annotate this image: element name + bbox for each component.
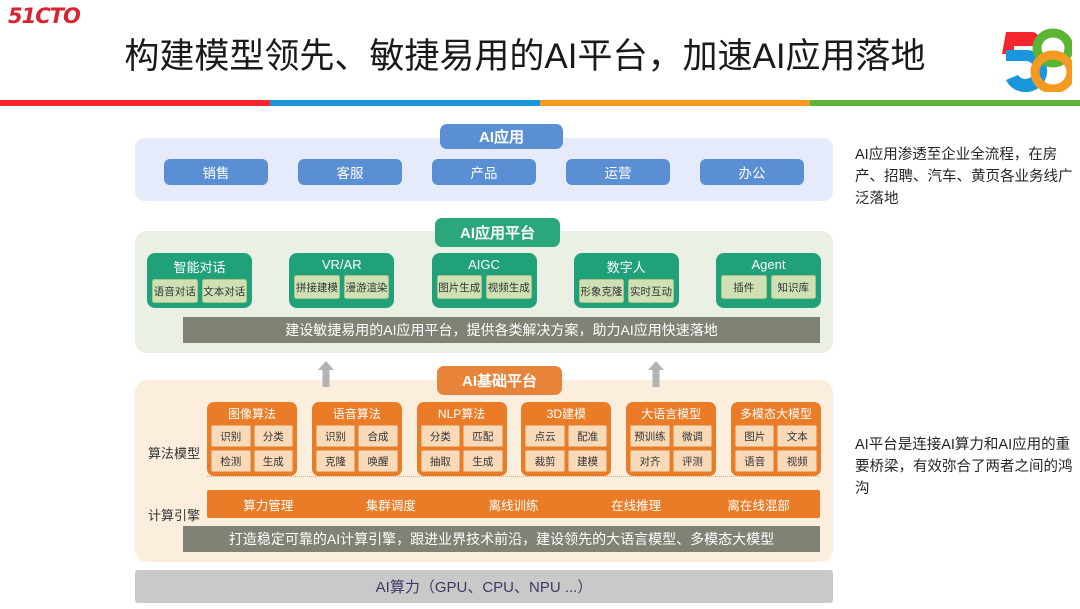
application-chip-list: 销售 客服 产品 运营 办公 [135, 159, 833, 185]
algo-card-title: 3D建模 [525, 404, 607, 425]
divider-segment-green [810, 100, 1080, 106]
algo-subitem[interactable]: 合成 [358, 425, 398, 447]
algo-card-title: 语音算法 [316, 404, 398, 425]
algo-subitem[interactable]: 配准 [568, 425, 608, 447]
platform-card-dialogue[interactable]: 智能对话 语音对话 文本对话 [147, 253, 252, 308]
algo-subitem[interactable]: 预训练 [630, 425, 670, 447]
platform-card-title: 智能对话 [152, 256, 247, 279]
algo-subitem[interactable]: 抽取 [421, 450, 461, 472]
platform-subitem[interactable]: 漫游渲染 [344, 275, 390, 299]
annotation-platform: AI平台是连接AI算力和AI应用的重要桥梁，有效弥合了两者之间的鸿沟 [855, 434, 1075, 500]
algo-subitem[interactable]: 生成 [463, 450, 503, 472]
algo-card-llm[interactable]: 大语言模型 预训练 微调 对齐 评测 [626, 402, 716, 476]
platform-card-title: VR/AR [294, 256, 389, 275]
engine-item-cluster-scheduling[interactable]: 集群调度 [330, 495, 453, 514]
algo-subitem[interactable]: 微调 [673, 425, 713, 447]
algo-subitem[interactable]: 克隆 [316, 450, 356, 472]
engine-item-compute-management[interactable]: 算力管理 [207, 495, 330, 514]
divider-bar [0, 100, 1080, 106]
algo-card-title: 多模态大模型 [735, 404, 817, 425]
algo-subitem[interactable]: 分类 [421, 425, 461, 447]
algo-card-image[interactable]: 图像算法 识别 分类 检测 生成 [207, 402, 297, 476]
algo-subitem[interactable]: 视频 [777, 450, 817, 472]
algo-subitem[interactable]: 检测 [211, 450, 251, 472]
algo-subitem[interactable]: 图片 [735, 425, 775, 447]
algo-subitem[interactable]: 唤醒 [358, 450, 398, 472]
compute-engine-bar: 算力管理 集群调度 离线训练 在线推理 离在线混部 [207, 490, 820, 518]
row-label-compute-engine: 计算引擎 [143, 505, 205, 524]
platform-card-digital-human[interactable]: 数字人 形象克隆 实时互动 [574, 253, 679, 308]
algo-subitem[interactable]: 对齐 [630, 450, 670, 472]
app-chip-product[interactable]: 产品 [432, 159, 536, 185]
engine-item-online-inference[interactable]: 在线推理 [575, 495, 698, 514]
app-platform-banner: 建设敏捷易用的AI应用平台，提供各类解决方案，助力AI应用快速落地 [183, 317, 820, 343]
algo-subitem[interactable]: 识别 [316, 425, 356, 447]
algo-card-title: 大语言模型 [630, 404, 712, 425]
slide-header: 51CTO 构建模型领先、敏捷易用的AI平台，加速AI应用落地 [0, 0, 1080, 112]
app-chip-operation[interactable]: 运营 [566, 159, 670, 185]
algo-subitem[interactable]: 识别 [211, 425, 251, 447]
platform-subitem[interactable]: 语音对话 [152, 279, 198, 303]
app-chip-office[interactable]: 办公 [700, 159, 804, 185]
algo-card-3d-modeling[interactable]: 3D建模 点云 配准 裁剪 建模 [521, 402, 611, 476]
arrow-up-icon-right [648, 361, 664, 387]
tag-ai-application: AI应用 [440, 124, 563, 149]
compute-resource-bar: AI算力（GPU、CPU、NPU ...） [135, 570, 833, 603]
algo-subitem[interactable]: 匹配 [463, 425, 503, 447]
algo-subitem[interactable]: 分类 [254, 425, 294, 447]
layer-ai-base-platform: 算法模型 图像算法 识别 分类 检测 生成 语音算法 [135, 380, 833, 562]
layer-ai-application-platform: 智能对话 语音对话 文本对话 VR/AR 拼接建模 漫游渲染 AIGC 图片生成… [135, 231, 833, 353]
tag-ai-application-platform: AI应用平台 [435, 218, 560, 247]
row-label-algorithm-model: 算法模型 [143, 443, 205, 462]
algo-subitem[interactable]: 文本 [777, 425, 817, 447]
platform-card-vrar[interactable]: VR/AR 拼接建模 漫游渲染 [289, 253, 394, 308]
platform-subitem[interactable]: 插件 [721, 275, 767, 299]
algo-subitem[interactable]: 点云 [525, 425, 565, 447]
platform-subitem[interactable]: 视频生成 [486, 275, 532, 299]
platform-subitem[interactable]: 拼接建模 [294, 275, 340, 299]
platform-card-title: Agent [721, 256, 816, 275]
engine-item-offline-training[interactable]: 离线训练 [452, 495, 575, 514]
divider-segment-orange [540, 100, 810, 106]
engine-item-hybrid-deployment[interactable]: 离在线混部 [697, 495, 820, 514]
platform-card-title: 数字人 [579, 256, 674, 279]
algo-subitem[interactable]: 裁剪 [525, 450, 565, 472]
algo-card-nlp[interactable]: NLP算法 分类 匹配 抽取 生成 [417, 402, 507, 476]
logo-51cto: 51CTO [8, 4, 80, 28]
platform-subitem[interactable]: 形象克隆 [579, 279, 625, 303]
algo-card-title: NLP算法 [421, 404, 503, 425]
page-title: 构建模型领先、敏捷易用的AI平台，加速AI应用落地 [0, 28, 1080, 79]
divider-segment-red [0, 100, 270, 106]
platform-subitem[interactable]: 知识库 [771, 275, 817, 299]
divider-segment-blue [270, 100, 540, 106]
algo-card-multimodal[interactable]: 多模态大模型 图片 文本 语音 视频 [731, 402, 821, 476]
algorithm-card-list: 图像算法 识别 分类 检测 生成 语音算法 识别 [207, 402, 821, 476]
architecture-diagram: AI应用 销售 客服 产品 运营 办公 AI应用平台 智能对话 语音对话 文本对… [0, 118, 1080, 609]
platform-subitem[interactable]: 实时互动 [628, 279, 674, 303]
app-platform-card-list: 智能对话 语音对话 文本对话 VR/AR 拼接建模 漫游渲染 AIGC 图片生成… [147, 253, 821, 308]
app-chip-sales[interactable]: 销售 [164, 159, 268, 185]
platform-card-aigc[interactable]: AIGC 图片生成 视频生成 [432, 253, 537, 308]
base-platform-banner: 打造稳定可靠的AI计算引擎，跟进业界技术前沿，建设领先的大语言模型、多模态大模型 [183, 526, 820, 552]
algo-subitem[interactable]: 语音 [735, 450, 775, 472]
algo-card-title: 图像算法 [211, 404, 293, 425]
algo-subitem[interactable]: 建模 [568, 450, 608, 472]
algo-subitem[interactable]: 评测 [673, 450, 713, 472]
algo-subitem[interactable]: 生成 [254, 450, 294, 472]
algo-card-speech[interactable]: 语音算法 识别 合成 克隆 唤醒 [312, 402, 402, 476]
platform-subitem[interactable]: 图片生成 [437, 275, 483, 299]
platform-subitem[interactable]: 文本对话 [202, 279, 248, 303]
logo-58-icon [996, 28, 1072, 92]
platform-card-agent[interactable]: Agent 插件 知识库 [716, 253, 821, 308]
tag-ai-base-platform: AI基础平台 [437, 366, 562, 395]
annotation-application: AI应用渗透至企业全流程，在房产、招聘、汽车、黄页各业务线广泛落地 [855, 144, 1075, 210]
app-chip-service[interactable]: 客服 [298, 159, 402, 185]
platform-card-title: AIGC [437, 256, 532, 275]
section-divider [207, 476, 820, 477]
arrow-up-icon-left [318, 361, 334, 387]
